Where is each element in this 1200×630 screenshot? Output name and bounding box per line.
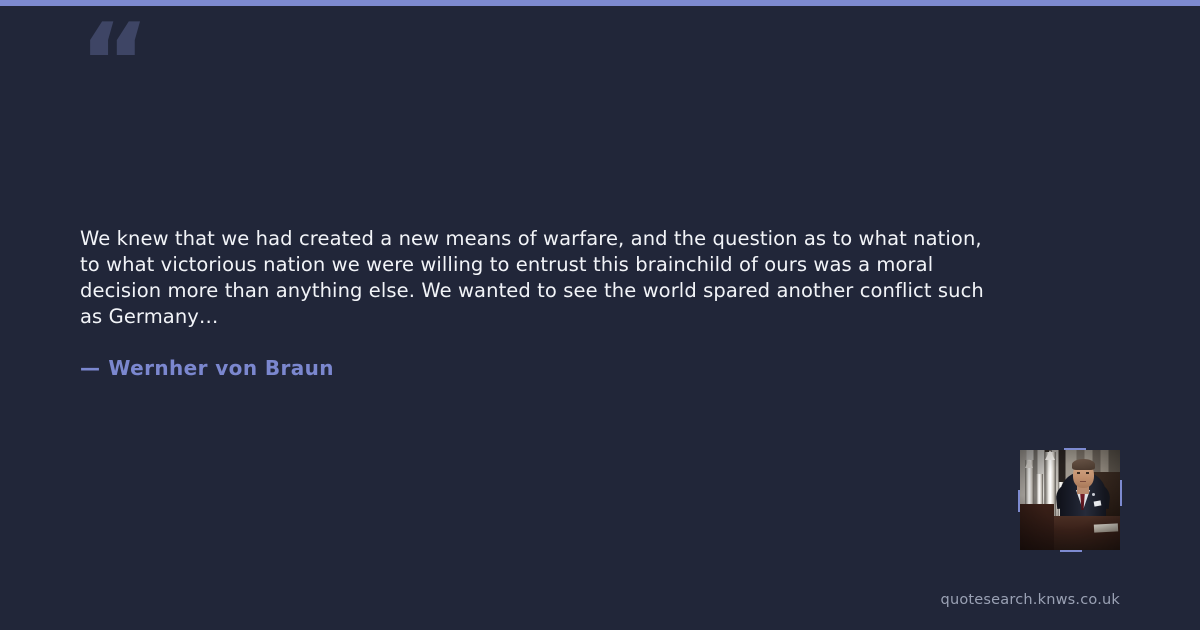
thumbnail-accent-tick-right xyxy=(1120,480,1122,506)
attribution-dash: — xyxy=(80,356,100,380)
thumbnail-accent-tick-top xyxy=(1064,448,1086,450)
author-thumbnail xyxy=(1020,450,1120,550)
thumbnail-accent-tick-left xyxy=(1018,490,1020,512)
quote-block: We knew that we had created a new means … xyxy=(80,226,1000,330)
top-accent-bar xyxy=(0,0,1200,6)
quote-text: We knew that we had created a new means … xyxy=(80,226,1000,330)
thumbnail-accent-tick-bottom xyxy=(1060,550,1082,552)
attribution-author: Wernher von Braun xyxy=(108,356,334,380)
quote-card: “ We knew that we had created a new mean… xyxy=(0,0,1200,630)
site-url-label: quotesearch.knws.co.uk xyxy=(941,591,1120,609)
quote-attribution: —Wernher von Braun xyxy=(80,355,334,381)
author-portrait-image xyxy=(1020,450,1120,550)
open-quote-icon: “ xyxy=(79,10,150,118)
